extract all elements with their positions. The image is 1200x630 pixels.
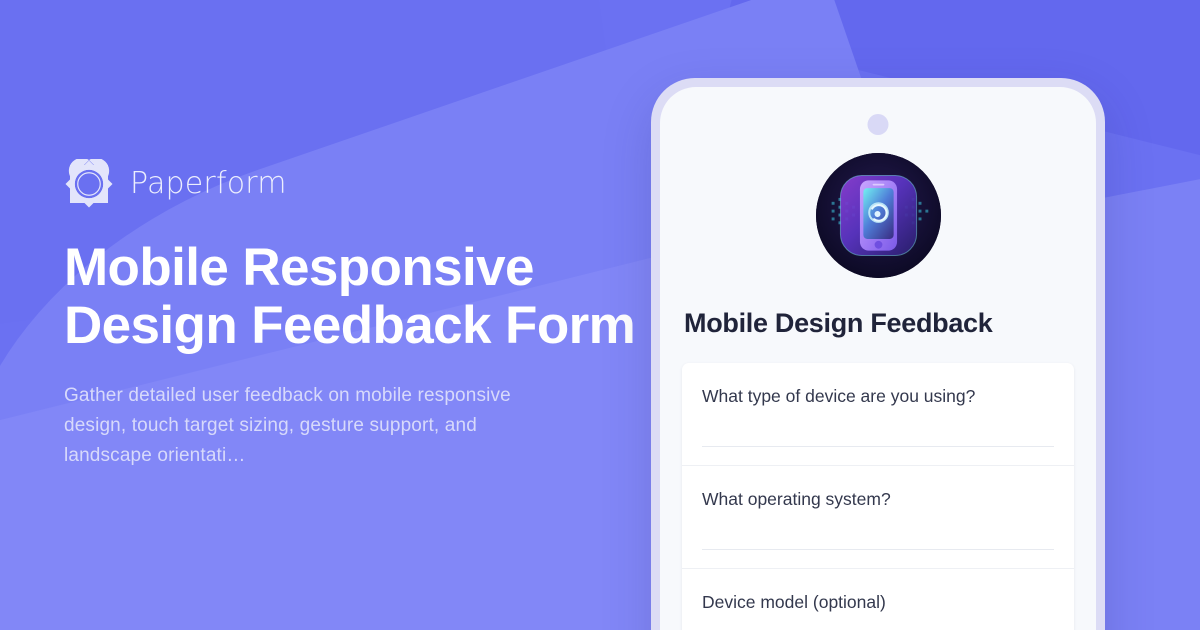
form-question-device-type[interactable]: What type of device are you using? [682,363,1074,466]
question-label: What operating system? [702,488,1054,511]
camera-dot-icon [868,114,889,135]
question-label: What type of device are you using? [702,385,1054,408]
form-card: What type of device are you using? What … [682,363,1074,630]
paperform-star-logo-icon [64,159,114,209]
page-title: Mobile Responsive Design Feedback Form [64,239,644,356]
page-description: Gather detailed user feedback on mobile … [64,381,534,471]
brand-lockup: Paperform [64,159,664,209]
question-spacer [702,550,1054,568]
phone-mockup: Mobile Design Feedback What type of devi… [651,78,1105,630]
form-title: Mobile Design Feedback [682,308,1074,339]
form-question-device-model[interactable]: Device model (optional) [682,569,1074,630]
social-share-card: Paperform Mobile Responsive Design Feedb… [0,0,1200,630]
phone-screen: Mobile Design Feedback What type of devi… [660,87,1096,630]
mobile-device-illustration-avatar-icon [816,153,941,278]
brand-name: Paperform [130,166,287,201]
question-spacer [702,447,1054,465]
hero-content: Paperform Mobile Responsive Design Feedb… [64,0,664,630]
form-question-operating-system[interactable]: What operating system? [682,466,1074,569]
question-label: Device model (optional) [702,591,1054,614]
